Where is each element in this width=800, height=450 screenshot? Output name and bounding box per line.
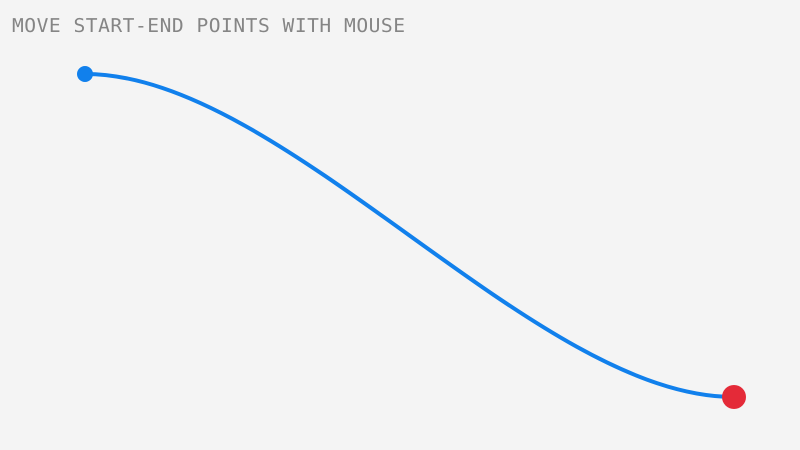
bezier-canvas[interactable] xyxy=(0,0,800,450)
end-point-handle[interactable] xyxy=(722,385,746,409)
page-title: MOVE START-END POINTS WITH MOUSE xyxy=(12,17,406,36)
canvas-background xyxy=(0,0,800,450)
start-point-handle[interactable] xyxy=(77,66,93,82)
canvas-stage: MOVE START-END POINTS WITH MOUSE xyxy=(0,0,800,450)
